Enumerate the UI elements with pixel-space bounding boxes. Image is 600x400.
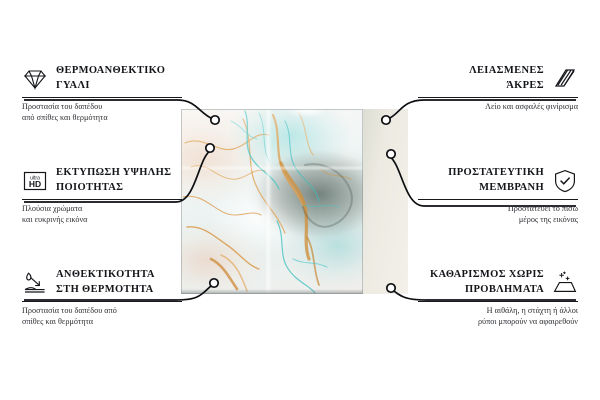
feature-high-quality-print: ultra HD ΕΚΤΥΠΩΣΗ ΥΨΗΛΗΣ ΠΟΙΟΤΗΤΑΣ Πλούσ…: [22, 166, 182, 225]
feature-heat-resistance: ΑΝΘΕΚΤΙΚΟΤΗΤΑ ΣΤΗ ΘΕΡΜΟΤΗΤΑ Προστασία το…: [22, 268, 182, 327]
feature-description: Πλούσια χρώματα και ευκρινής εικόνα: [22, 204, 182, 225]
feature-title: ΛΕΙΑΣΜΕΝΕΣ ΆΚΡΕΣ: [469, 64, 544, 93]
connector-dot-right-3: [387, 284, 395, 292]
shield-check-icon: [552, 168, 578, 194]
feature-description: Προστατεύει το πίσω μέρος της εικόνας: [418, 204, 578, 225]
connector-dot-left-2: [206, 144, 214, 152]
diamond-icon: [22, 66, 48, 92]
feature-description: Προστασία του δαπέδου από σπίθες και θερ…: [22, 306, 182, 327]
ultra-hd-icon: ultra HD: [22, 168, 48, 194]
divider: [22, 199, 182, 200]
divider: [22, 301, 182, 302]
heat-spark-resistance-icon: [22, 270, 48, 296]
connector-dot-left-3: [210, 279, 218, 287]
divider: [418, 97, 578, 98]
feature-easy-cleaning: ΚΑΘΑΡΙΣΜΟΣ ΧΩΡΙΣ ΠΡΟΒΛΗΜΑΤΑ Η αιθάλη, η …: [418, 268, 578, 327]
divider: [418, 199, 578, 200]
feature-title: ΚΑΘΑΡΙΣΜΟΣ ΧΩΡΙΣ ΠΡΟΒΛΗΜΑΤΑ: [430, 268, 544, 297]
feature-polished-edges: ΛΕΙΑΣΜΕΝΕΣ ΆΚΡΕΣ Λείο και ασφαλές φινίρι…: [418, 64, 578, 113]
feature-description: Η αιθάλη, η στάχτη ή άλλοι ρύποι μπορούν…: [418, 306, 578, 327]
feature-description: Προστασία του δαπέδου από σπίθες και θερ…: [22, 102, 182, 123]
divider: [418, 301, 578, 302]
feature-description: Λείο και ασφαλές φινίρισμα: [418, 102, 578, 113]
infographic-canvas: ΘΕΡΜΟΑΝΘΕΚΤΙΚΟ ΓΥΑΛΙ Προστασία του δαπέδ…: [0, 0, 600, 400]
feature-title: ΘΕΡΜΟΑΝΘΕΚΤΙΚΟ ΓΥΑΛΙ: [56, 64, 165, 93]
connector-dot-right-1: [382, 116, 390, 124]
feature-heat-resistant-glass: ΘΕΡΜΟΑΝΘΕΚΤΙΚΟ ΓΥΑΛΙ Προστασία του δαπέδ…: [22, 64, 182, 123]
polished-edges-icon: [552, 66, 578, 92]
divider: [22, 97, 182, 98]
connector-dot-right-2: [387, 150, 395, 158]
connector-dot-left-1: [211, 116, 219, 124]
feature-protective-membrane: ΠΡΟΣΤΑΤΕΥΤΙΚΗ ΜΕΜΒΡΑΝΗ Προστατεύει το πί…: [418, 166, 578, 225]
feature-title: ΕΚΤΥΠΩΣΗ ΥΨΗΛΗΣ ΠΟΙΟΤΗΤΑΣ: [56, 166, 171, 195]
feature-title: ΠΡΟΣΤΑΤΕΥΤΙΚΗ ΜΕΜΒΡΑΝΗ: [448, 166, 544, 195]
feature-title: ΑΝΘΕΚΤΙΚΟΤΗΤΑ ΣΤΗ ΘΕΡΜΟΤΗΤΑ: [56, 268, 155, 297]
svg-text:HD: HD: [29, 179, 41, 189]
easy-cleaning-sparkle-icon: [552, 270, 578, 296]
